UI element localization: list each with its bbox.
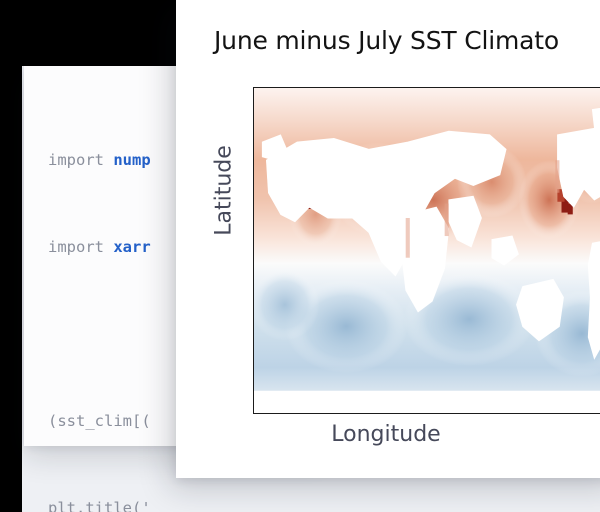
x-axis-label: Longitude <box>176 422 596 447</box>
map-axes-frame[interactable] <box>253 87 600 414</box>
code-keyword: import <box>48 151 113 169</box>
code-module-name: nump <box>113 151 150 169</box>
chart-title: June minus July SST Climato <box>214 26 559 55</box>
y-axis-label: Latitude <box>212 111 237 271</box>
code-keyword: import <box>48 238 113 256</box>
plot-card[interactable]: June minus July SST Climato Latitude Lon… <box>176 0 600 478</box>
code-module-name: xarr <box>113 238 150 256</box>
sst-difference-heatmap <box>254 88 600 413</box>
code-text: (sst_clim[( <box>48 412 151 430</box>
screenshot-root: import nump import xarr (sst_clim[( plt.… <box>0 0 600 512</box>
code-line-5: plt.title(' <box>48 494 324 512</box>
code-text: plt.title(' <box>48 499 151 512</box>
